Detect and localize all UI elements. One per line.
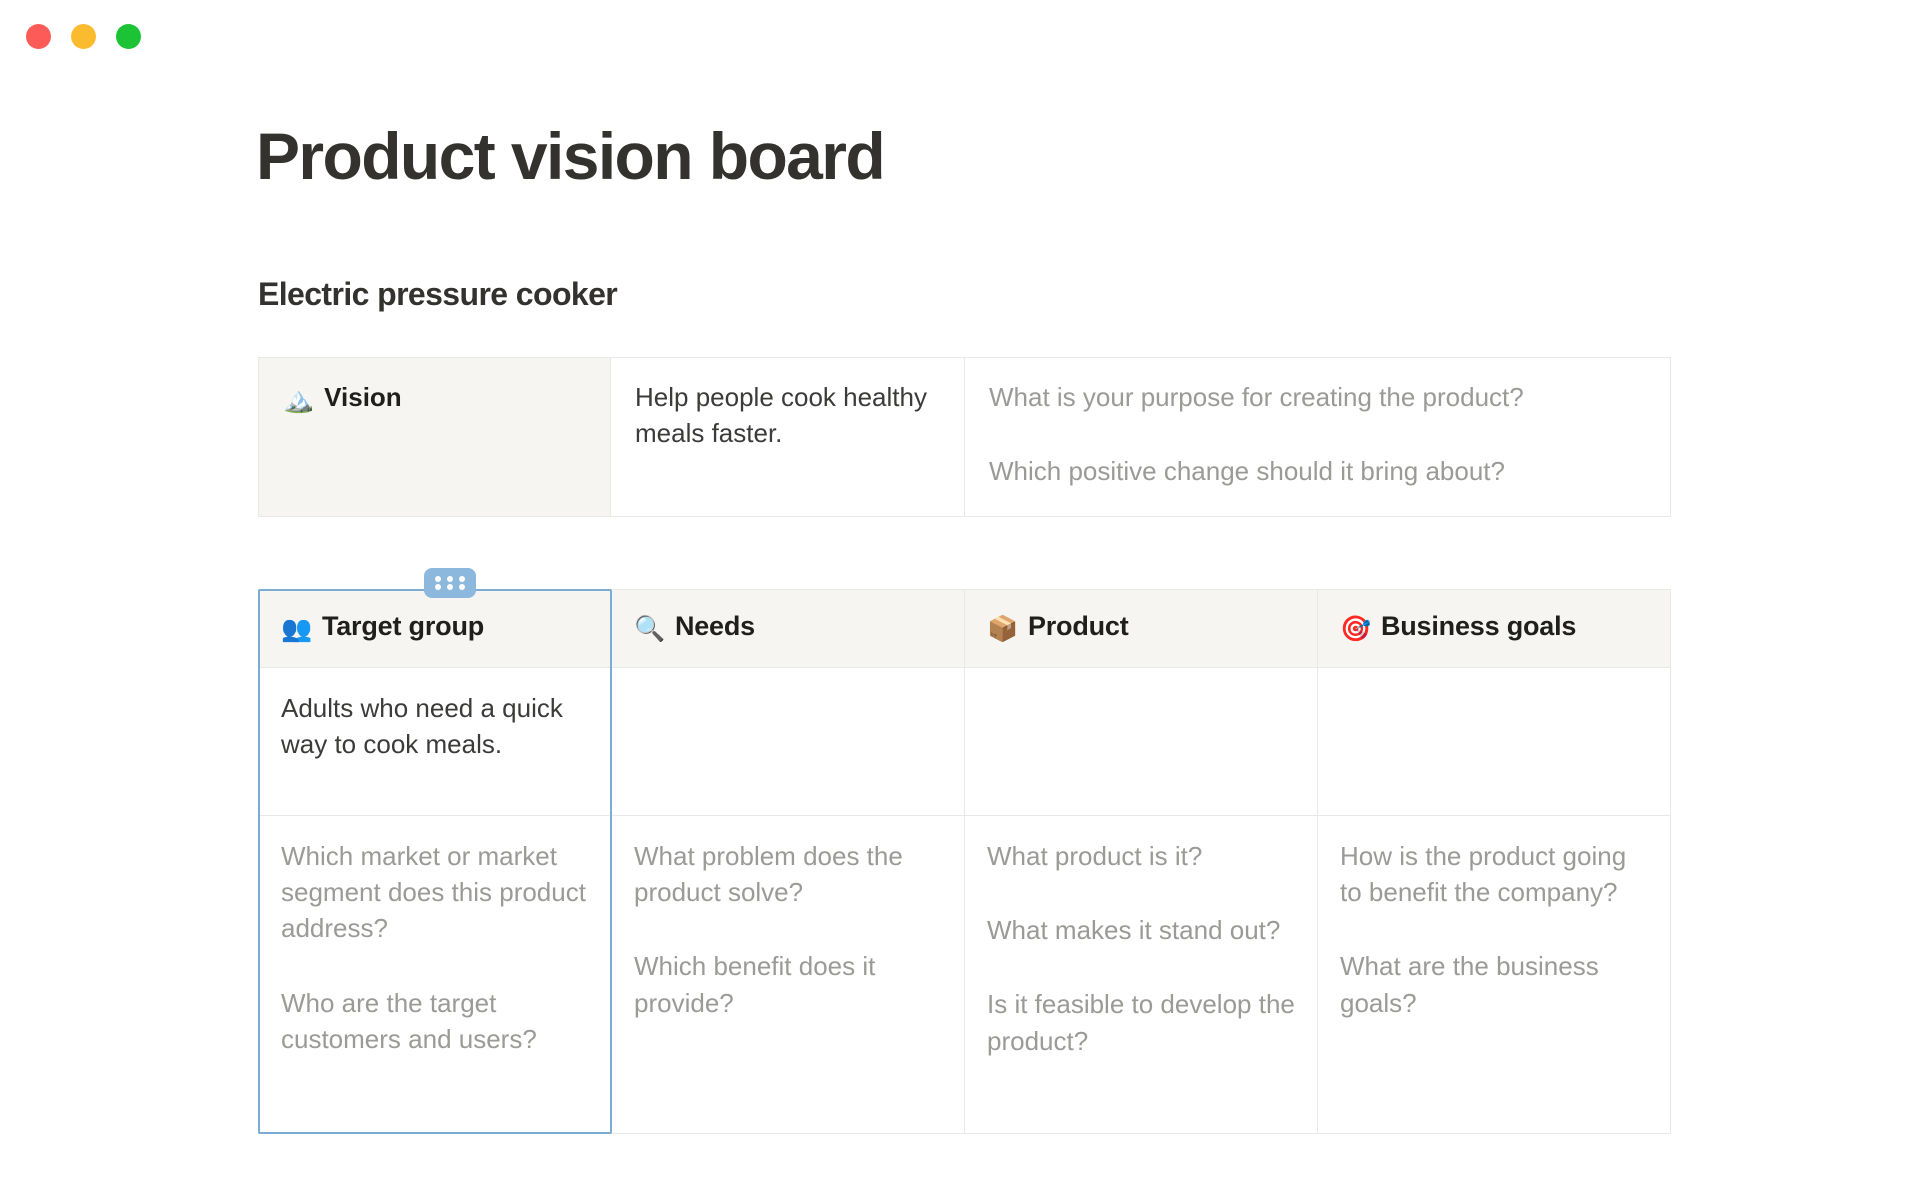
board-table: 👥Target group 🔍Needs 📦Product 🎯Business … [258, 589, 1671, 1134]
hint-cell-target-group[interactable]: Which market or market segment does this… [259, 815, 612, 1133]
window-traffic-lights [26, 24, 141, 49]
direct-hit-icon: 🎯 [1340, 614, 1371, 644]
vision-table: 🏔️Vision Help people cook healthy meals … [258, 357, 1671, 517]
section-title[interactable]: Electric pressure cooker [258, 276, 1920, 313]
hint-cell-needs[interactable]: What problem does the product solve? Whi… [612, 815, 965, 1133]
document-body: Product vision board Electric pressure c… [0, 72, 1920, 1134]
board-header-product[interactable]: 📦Product [965, 589, 1318, 667]
hint-line: What makes it stand out? [987, 912, 1295, 948]
board-answer-row: Adults who need a quick way to cook meal… [259, 667, 1671, 815]
vision-hint-1: What is your purpose for creating the pr… [989, 380, 1646, 416]
hint-cell-business-goals[interactable]: How is the product going to benefit the … [1318, 815, 1671, 1133]
drag-dot [459, 584, 465, 590]
drag-dot [459, 576, 465, 582]
vision-hint-2: Which positive change should it bring ab… [989, 454, 1646, 490]
package-icon: 📦 [987, 614, 1018, 644]
board-header-label: Business goals [1381, 611, 1576, 641]
product-vision-board: 👥Target group 🔍Needs 📦Product 🎯Business … [258, 589, 1670, 1134]
vision-hint-cell[interactable]: What is your purpose for creating the pr… [965, 357, 1671, 516]
board-header-label: Product [1028, 611, 1129, 641]
close-window-button[interactable] [26, 24, 51, 49]
board-header-target-group[interactable]: 👥Target group [259, 589, 612, 667]
hint-line: How is the product going to benefit the … [1340, 838, 1648, 911]
page-title[interactable]: Product vision board [256, 120, 1920, 194]
maximize-window-button[interactable] [116, 24, 141, 49]
board-header-needs[interactable]: 🔍Needs [612, 589, 965, 667]
minimize-window-button[interactable] [71, 24, 96, 49]
drag-dot [435, 576, 441, 582]
board-hint-row: Which market or market segment does this… [259, 815, 1671, 1133]
column-drag-handle[interactable] [424, 568, 476, 598]
answer-cell-target-group[interactable]: Adults who need a quick way to cook meal… [259, 667, 612, 815]
hint-line: Who are the target customers and users? [281, 985, 589, 1058]
answer-cell-needs[interactable] [612, 667, 965, 815]
drag-dot [447, 576, 453, 582]
vision-value-cell[interactable]: Help people cook healthy meals faster. [611, 357, 965, 516]
window-titlebar [0, 0, 1920, 72]
drag-dot [435, 584, 441, 590]
hint-line: What problem does the product solve? [634, 838, 942, 911]
answer-cell-business-goals[interactable] [1318, 667, 1671, 815]
hint-line: Is it feasible to develop the product? [987, 986, 1295, 1059]
board-header-label: Target group [322, 611, 484, 641]
snow-capped-mountain-icon: 🏔️ [283, 383, 314, 418]
vision-label-cell[interactable]: 🏔️Vision [259, 357, 611, 516]
magnifying-glass-icon: 🔍 [634, 614, 665, 644]
board-header-label: Needs [675, 611, 755, 641]
hint-line: What product is it? [987, 838, 1295, 874]
answer-cell-product[interactable] [965, 667, 1318, 815]
table-row: 🏔️Vision Help people cook healthy meals … [259, 357, 1671, 516]
board-header-row: 👥Target group 🔍Needs 📦Product 🎯Business … [259, 589, 1671, 667]
hint-line: What are the business goals? [1340, 948, 1648, 1021]
board-header-business-goals[interactable]: 🎯Business goals [1318, 589, 1671, 667]
busts-in-silhouette-icon: 👥 [281, 614, 312, 644]
hint-line: Which market or market segment does this… [281, 838, 589, 947]
hint-line: Which benefit does it provide? [634, 948, 942, 1021]
hint-cell-product[interactable]: What product is it? What makes it stand … [965, 815, 1318, 1133]
drag-dot [447, 584, 453, 590]
vision-label: Vision [324, 382, 402, 412]
